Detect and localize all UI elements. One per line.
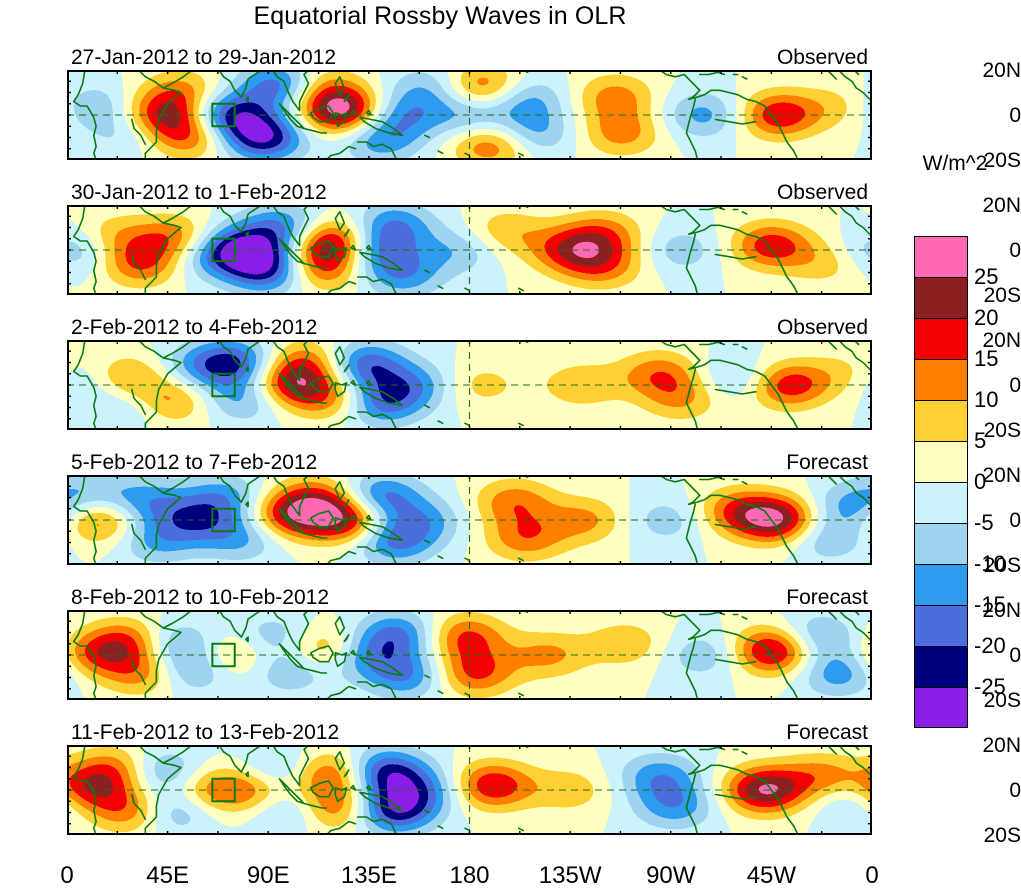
map-panel: 11-Feb-2012 to 13-Feb-2012Forecast (67, 745, 872, 835)
colorbar-swatch[interactable] (914, 441, 968, 482)
map-panel: 30-Jan-2012 to 1-Feb-2012Observed (67, 205, 872, 295)
panel-header: 30-Jan-2012 to 1-Feb-2012Observed (69, 181, 870, 205)
map-panel: 5-Feb-2012 to 7-Feb-2012Forecast (67, 475, 872, 565)
y-axis-tick-label: 0 (963, 240, 1021, 261)
panel-kind-label: Forecast (786, 451, 868, 475)
y-axis-tick-label: 20S (963, 555, 1021, 576)
map-panel: 2-Feb-2012 to 4-Feb-2012Observed (67, 340, 872, 430)
colorbar-swatch[interactable] (914, 605, 968, 646)
panel-frame (67, 205, 872, 295)
panel-frame (67, 610, 872, 700)
y-axis-tick-label: 20S (963, 825, 1021, 846)
panel-header: 8-Feb-2012 to 10-Feb-2012Forecast (69, 586, 870, 610)
y-axis-tick-label: 20N (963, 60, 1021, 81)
panel-period-label: 27-Jan-2012 to 29-Jan-2012 (71, 46, 336, 70)
panel-period-label: 30-Jan-2012 to 1-Feb-2012 (71, 181, 327, 205)
map-panel: 8-Feb-2012 to 10-Feb-2012Forecast (67, 610, 872, 700)
y-axis-tick-label: 0 (963, 645, 1021, 666)
map-panel: 27-Jan-2012 to 29-Jan-2012Observed (67, 70, 872, 160)
x-axis-tick-label: 135E (341, 862, 397, 890)
y-axis-tick-label: 20N (963, 465, 1021, 486)
colorbar-tick-label: 20 (974, 307, 998, 329)
y-axis-tick-label: 20N (963, 600, 1021, 621)
y-axis-tick-label: 0 (963, 780, 1021, 801)
panel-header: 5-Feb-2012 to 7-Feb-2012Forecast (69, 451, 870, 475)
x-axis-tick-label: 45W (747, 862, 796, 890)
x-axis-tick-label: 0 (60, 862, 73, 890)
x-axis-tick-labels: 045E90E135E180135W90W45W0 (0, 862, 1021, 890)
y-axis-tick-label: 20N (963, 330, 1021, 351)
x-axis-tick-label: 180 (449, 862, 489, 890)
panel-frame (67, 475, 872, 565)
y-axis-tick-label: 20S (963, 420, 1021, 441)
colorbar-swatch[interactable] (914, 359, 968, 400)
panel-period-label: 2-Feb-2012 to 4-Feb-2012 (71, 316, 317, 340)
colorbar-swatch[interactable] (914, 646, 968, 687)
colorbar-swatch[interactable] (914, 318, 968, 359)
x-axis-tick-label: 45E (146, 862, 189, 890)
y-axis-tick-label: 0 (963, 375, 1021, 396)
page-title: Equatorial Rossby Waves in OLR (0, 2, 880, 31)
y-axis-tick-label: 0 (963, 105, 1021, 126)
panel-header: 27-Jan-2012 to 29-Jan-2012Observed (69, 46, 870, 70)
panel-period-label: 11-Feb-2012 to 13-Feb-2012 (71, 721, 339, 745)
panel-kind-label: Forecast (786, 721, 868, 745)
panel-kind-label: Forecast (786, 586, 868, 610)
y-axis-tick-label: 20N (963, 735, 1021, 756)
colorbar-swatch[interactable] (914, 400, 968, 441)
colorbar-swatch[interactable] (914, 564, 968, 605)
panel-frame (67, 340, 872, 430)
colorbar-swatch[interactable] (914, 236, 968, 277)
panel-period-label: 8-Feb-2012 to 10-Feb-2012 (71, 586, 329, 610)
panel-kind-label: Observed (777, 46, 868, 70)
panel-frame (67, 70, 872, 160)
colorbar-swatch[interactable] (914, 482, 968, 523)
x-axis-tick-label: 0 (865, 862, 878, 890)
panel-kind-label: Observed (777, 181, 868, 205)
panel-frame (67, 745, 872, 835)
y-axis-tick-label: 20S (963, 285, 1021, 306)
colorbar-swatch[interactable] (914, 277, 968, 318)
x-axis-tick-label: 90W (646, 862, 695, 890)
colorbar-swatch[interactable] (914, 523, 968, 564)
x-axis-tick-label: 90E (247, 862, 290, 890)
colorbar-swatch[interactable] (914, 687, 968, 728)
y-axis-tick-label: 20S (963, 150, 1021, 171)
y-axis-tick-label: 0 (963, 510, 1021, 531)
y-axis-tick-label: 20S (963, 690, 1021, 711)
panel-header: 2-Feb-2012 to 4-Feb-2012Observed (69, 316, 870, 340)
panel-header: 11-Feb-2012 to 13-Feb-2012Forecast (69, 721, 870, 745)
x-axis-tick-label: 135W (539, 862, 602, 890)
colorbar[interactable] (914, 236, 968, 728)
y-axis-tick-label: 20N (963, 195, 1021, 216)
panel-kind-label: Observed (777, 316, 868, 340)
panel-period-label: 5-Feb-2012 to 7-Feb-2012 (71, 451, 317, 475)
